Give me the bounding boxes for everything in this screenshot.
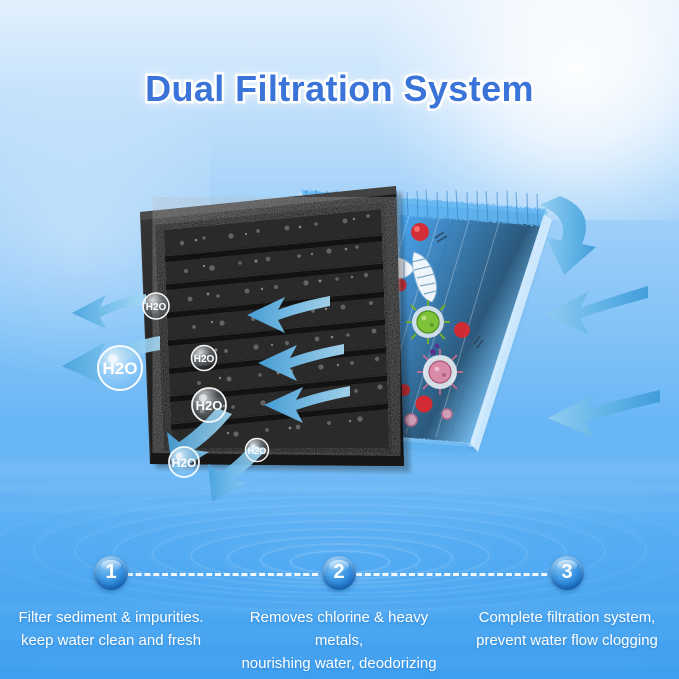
- water-band: [0, 455, 679, 481]
- svg-text:H2O: H2O: [172, 456, 197, 470]
- svg-text:H2O: H2O: [196, 398, 223, 413]
- water-bubbles: H2O H2O H2O H2O H2O: [98, 293, 269, 477]
- step-2-number: 2: [322, 556, 356, 590]
- filter-dividers: [165, 234, 388, 430]
- sponge-filter-pad: [232, 190, 552, 455]
- water-band: [0, 478, 679, 498]
- arrow-intake-1: [540, 196, 596, 275]
- h2o-bubble: H2O: [192, 346, 217, 371]
- step-2-text: Removes chlorine & heavy metals, nourish…: [226, 606, 452, 675]
- virus-pink-icon: [417, 349, 463, 395]
- svg-text:H2O: H2O: [146, 302, 167, 313]
- carbon-granule-rows: [164, 209, 389, 449]
- germ-ring-icon: [373, 321, 452, 426]
- left-light-glow: [0, 80, 210, 380]
- h2o-bubble: H2O: [98, 346, 142, 390]
- svg-text:H2O: H2O: [194, 354, 215, 365]
- h2o-bubble: H2O: [143, 293, 169, 319]
- steps-row: 1 Filter sediment & impurities. keep wat…: [0, 556, 679, 676]
- step-3-number: 3: [550, 556, 584, 590]
- infographic-canvas: Dual Filtration System: [0, 0, 679, 679]
- germ-red-icon: [362, 223, 470, 413]
- intake-arrows: [540, 196, 660, 438]
- step-1: 1 Filter sediment & impurities. keep wat…: [0, 556, 224, 652]
- outflow-arrows: [62, 294, 266, 502]
- bacillus-icon: [356, 254, 414, 280]
- page-title: Dual Filtration System: [0, 68, 679, 110]
- step-1-number: 1: [94, 556, 128, 590]
- step-1-text: Filter sediment & impurities. keep water…: [0, 606, 224, 652]
- virus-green-icon: [406, 300, 450, 344]
- carbon-granules: [180, 214, 383, 440]
- svg-text:H2O: H2O: [103, 359, 138, 378]
- h2o-bubble: H2O: [192, 388, 226, 422]
- svg-text:H2O: H2O: [248, 446, 267, 456]
- water-band: [0, 500, 679, 516]
- corner-light-glow: [379, 0, 679, 220]
- h2o-bubble: H2O: [246, 439, 269, 462]
- bacillus-icon: [412, 252, 437, 302]
- arrow-intake-3: [548, 390, 660, 438]
- arrow-intake-2: [544, 286, 648, 334]
- germ-purple-icon: [382, 273, 440, 356]
- h2o-bubble: H2O: [169, 447, 199, 477]
- micro-rod-icon: [435, 232, 483, 348]
- contaminant-germs: [356, 223, 483, 426]
- step-3: 3 Complete filtration system, prevent wa…: [454, 556, 679, 652]
- step-3-text: Complete filtration system, prevent wate…: [454, 606, 679, 652]
- step-2: 2 Removes chlorine & heavy metals, nouri…: [226, 556, 452, 675]
- divider-highlights: [165, 235, 388, 424]
- carbon-filter-cartridge: [140, 186, 410, 472]
- transfer-arrows: [247, 296, 350, 423]
